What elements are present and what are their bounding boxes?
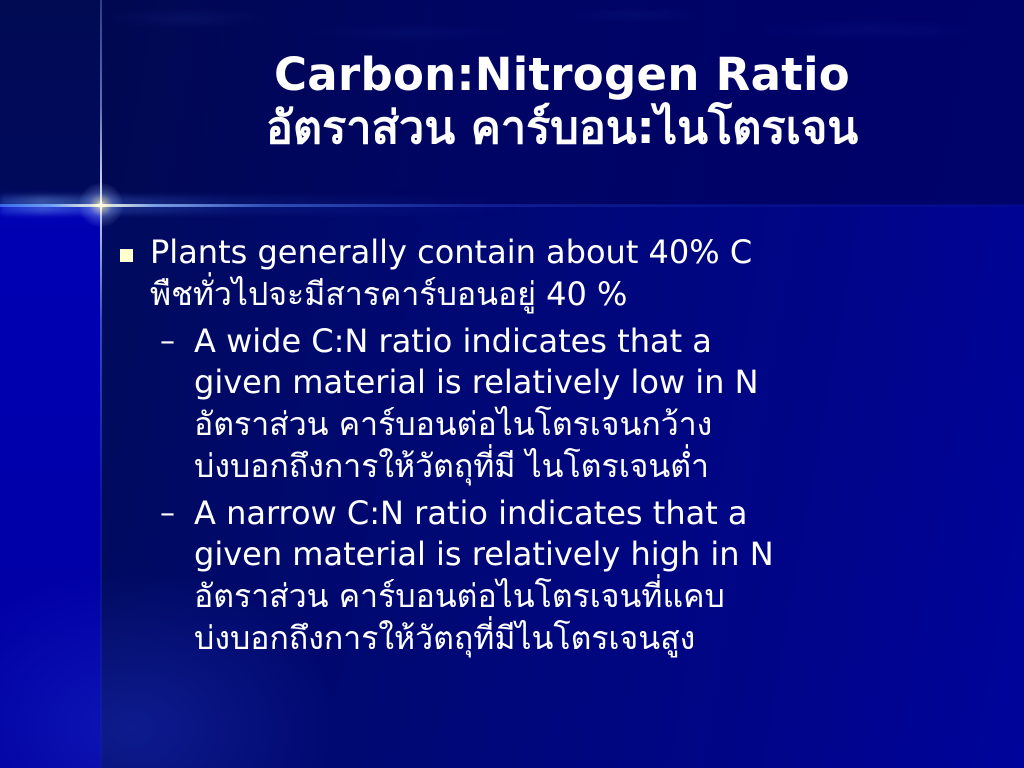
bullet-line: given material is relatively high in N [194, 534, 996, 575]
starburst-horizontal-beam-icon [0, 204, 1024, 207]
slide-body: Plants generally contain about 40% C พืช… [116, 232, 996, 659]
presentation-slide: Carbon:Nitrogen Ratio อัตราส่วน คาร์บอน:… [0, 0, 1024, 768]
bullet-line: บ่งบอกถึงการให้วัตถุที่มี ไนโตรเจนต่ำ [194, 445, 996, 487]
bullet-line: A wide C:N ratio indicates that a [194, 321, 996, 362]
square-bullet-icon [120, 249, 133, 262]
bullet-line: อัตราส่วน คาร์บอนต่อไนโตรเจนที่แคบ [194, 575, 996, 617]
bullet-line: บ่งบอกถึงการให้วัตถุที่มีไนโตรเจนสูง [194, 617, 996, 659]
list-item: Plants generally contain about 40% C พืช… [116, 232, 996, 315]
starburst-icon [101, 205, 102, 206]
slide-title: Carbon:Nitrogen Ratio อัตราส่วน คาร์บอน:… [112, 50, 1012, 156]
slide-title-thai: อัตราส่วน คาร์บอน:ไนโตรเจน [112, 100, 1012, 156]
list-item: – A wide C:N ratio indicates that a give… [116, 321, 996, 487]
bullet-line: พืชทั่วไปจะมีสารคาร์บอนอยู่ 40 % [150, 273, 996, 315]
bullet-line: Plants generally contain about 40% C [150, 232, 996, 273]
bullet-line: อัตราส่วน คาร์บอนต่อไนโตรเจนกว้าง [194, 403, 996, 445]
dash-bullet-icon: – [160, 321, 175, 362]
slide-title-english: Carbon:Nitrogen Ratio [112, 50, 1012, 100]
bullet-line: given material is relatively low in N [194, 362, 996, 403]
list-item: – A narrow C:N ratio indicates that a gi… [116, 493, 996, 659]
dash-bullet-icon: – [160, 493, 175, 534]
starburst-vertical-beam-icon [100, 0, 102, 768]
bullet-line: A narrow C:N ratio indicates that a [194, 493, 996, 534]
